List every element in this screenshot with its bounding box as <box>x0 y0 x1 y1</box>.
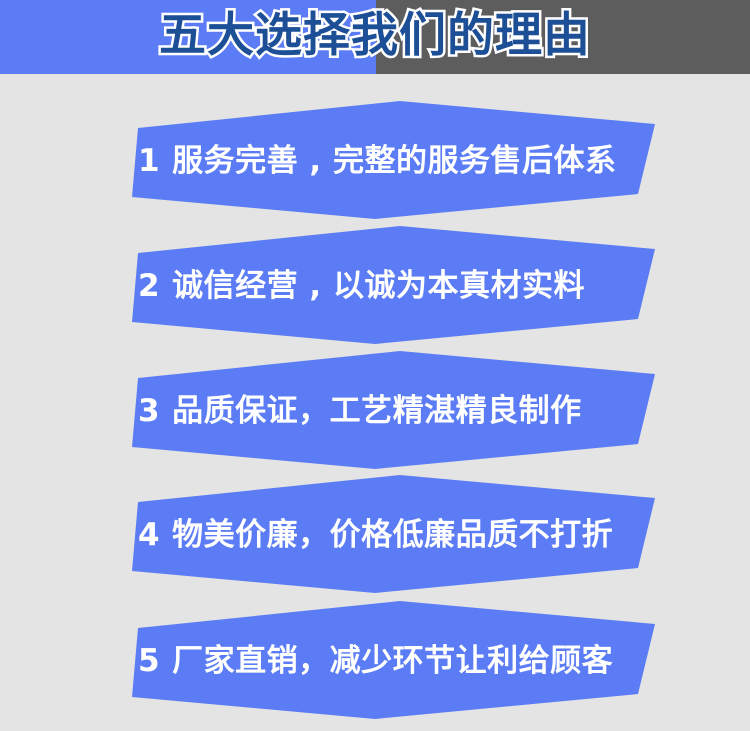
reason-text-4: 物美价廉，价格低廉品质不打折 <box>172 517 613 553</box>
reason-label-3: 3品质保证，工艺精湛精良制作 <box>138 378 638 444</box>
reason-text-2: 诚信经营 , 以诚为本真材实料 <box>172 268 585 304</box>
reason-text-5: 厂家直销，减少环节让利给顾客 <box>172 643 613 679</box>
page-title: 五大选择我们的理由 <box>0 0 750 74</box>
page-header: 五大选择我们的理由 <box>0 0 750 74</box>
reason-number-2: 2 <box>138 253 160 319</box>
reason-banner-1: 1服务完善 , 完整的服务售后体系 <box>110 101 655 219</box>
reason-label-2: 2诚信经营 , 以诚为本真材实料 <box>138 253 638 319</box>
reason-number-4: 4 <box>138 502 160 568</box>
reason-label-1: 1服务完善 , 完整的服务售后体系 <box>138 128 638 194</box>
reason-banner-2: 2诚信经营 , 以诚为本真材实料 <box>110 226 655 344</box>
reason-banner-5: 5厂家直销，减少环节让利给顾客 <box>110 601 655 719</box>
reason-label-4: 4物美价廉，价格低廉品质不打折 <box>138 502 638 568</box>
reason-label-5: 5厂家直销，减少环节让利给顾客 <box>138 628 638 694</box>
reason-text-3: 品质保证，工艺精湛精良制作 <box>172 393 582 429</box>
reason-banner-3: 3品质保证，工艺精湛精良制作 <box>110 351 655 469</box>
reason-number-5: 5 <box>138 628 160 694</box>
reason-text-1: 服务完善 , 完整的服务售后体系 <box>172 143 616 179</box>
reason-number-1: 1 <box>138 128 160 194</box>
reason-number-3: 3 <box>138 378 160 444</box>
reason-banner-4: 4物美价廉，价格低廉品质不打折 <box>110 475 655 593</box>
reasons-board: 1服务完善 , 完整的服务售后体系 2诚信经营 , 以诚为本真材实料 3品质保证… <box>0 74 750 731</box>
